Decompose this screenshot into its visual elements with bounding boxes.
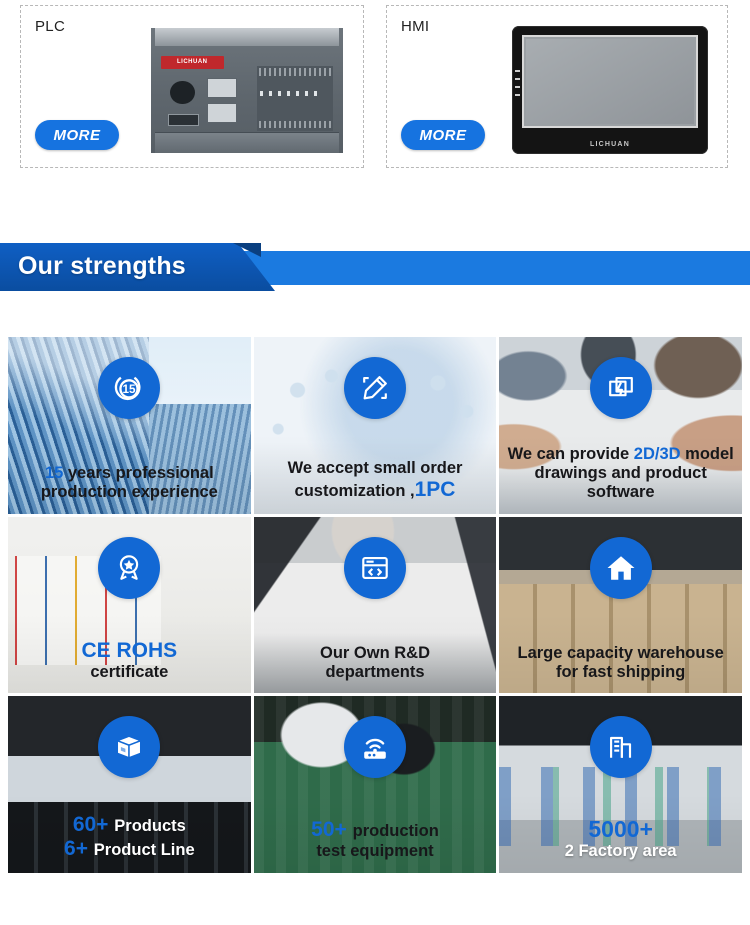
caption-line: test equipment — [260, 842, 491, 861]
clock-15-icon: 15 — [98, 357, 160, 419]
caption-line: 50+ production — [260, 818, 491, 842]
strength-tile[interactable]: 50+ productiontest equipment — [254, 696, 497, 873]
caption-line: certificate — [14, 663, 245, 682]
page-root: PLC LICHUAN MORE HMI — [0, 0, 750, 925]
caption-segment: We can provide — [508, 445, 634, 463]
caption-segment: certificate — [90, 663, 168, 681]
caption-line: drawings and product software — [505, 464, 736, 502]
product-card-title: PLC — [35, 18, 65, 35]
caption-line: 6+ Product Line — [14, 837, 245, 861]
caption-segment: years professional — [68, 464, 214, 482]
caption-line: 2 Factory area — [505, 842, 736, 861]
caption-segment: production — [353, 822, 439, 840]
caption-segment: Large capacity warehouse — [517, 644, 723, 662]
product-card-hmi[interactable]: HMI LICHUAN MORE — [386, 5, 728, 168]
caption-segment: Our Own R&D — [320, 644, 430, 662]
caption-segment: CE ROHS — [81, 639, 177, 662]
strength-tile[interactable]: Large capacity warehousefor fast shippin… — [499, 517, 742, 694]
section-title: Our strengths — [18, 252, 186, 281]
caption-segment: test equipment — [316, 842, 433, 860]
strength-tile[interactable]: 60+ Products6+ Product Line — [8, 696, 251, 873]
caption-line: customization ,1PC — [260, 478, 491, 502]
more-button-plc[interactable]: MORE — [35, 120, 119, 150]
strength-caption: We accept small ordercustomization ,1PC — [260, 459, 491, 502]
caption-line: Our Own R&D — [260, 644, 491, 663]
caption-segment: 2 Factory area — [565, 842, 677, 860]
strength-caption: Large capacity warehousefor fast shippin… — [505, 644, 736, 682]
strength-tile[interactable]: Our Own R&Ddepartments — [254, 517, 497, 694]
factory-building-icon — [590, 716, 652, 778]
svg-text:15: 15 — [123, 383, 137, 396]
caption-segment: production experience — [41, 483, 218, 501]
strengths-grid: 1515 years professionalproduction experi… — [8, 337, 742, 873]
strength-caption: 5000+2 Factory area — [505, 816, 736, 861]
strength-caption: CE ROHScertificate — [14, 639, 245, 682]
caption-segment: 2D/3D — [634, 445, 681, 463]
product-card-plc[interactable]: PLC LICHUAN MORE — [20, 5, 364, 168]
caption-segment: 60+ — [73, 813, 114, 836]
caption-segment: 1PC — [415, 478, 456, 501]
strength-tile[interactable]: 5000+2 Factory area — [499, 696, 742, 873]
caption-line: 60+ Products — [14, 813, 245, 837]
plc-controller-image: LICHUAN — [151, 28, 343, 153]
caption-line: production experience — [14, 483, 245, 502]
caption-segment: departments — [325, 663, 424, 681]
router-signal-icon — [344, 716, 406, 778]
caption-line: CE ROHS — [14, 639, 245, 663]
caption-line: We can provide 2D/3D model — [505, 445, 736, 464]
more-button-hmi[interactable]: MORE — [401, 120, 485, 150]
caption-line: for fast shipping — [505, 663, 736, 682]
caption-segment: customization , — [295, 482, 415, 500]
caption-segment: model — [681, 445, 734, 463]
certificate-star-icon — [98, 537, 160, 599]
strength-caption: 50+ productiontest equipment — [260, 818, 491, 861]
caption-segment: 6+ — [64, 837, 94, 860]
strength-caption: We can provide 2D/3D modeldrawings and p… — [505, 445, 736, 501]
strength-tile[interactable]: We can provide 2D/3D modeldrawings and p… — [499, 337, 742, 514]
caption-segment: Product Line — [94, 841, 195, 859]
caption-line: departments — [260, 663, 491, 682]
hmi-touch-panel-image: LICHUAN — [512, 26, 708, 154]
strength-tile[interactable]: 1515 years professionalproduction experi… — [8, 337, 251, 514]
caption-segment: 5000+ — [588, 816, 653, 842]
caption-segment: drawings and product software — [534, 464, 706, 501]
cad-drawing-icon — [590, 357, 652, 419]
strength-tile[interactable]: CE ROHScertificate — [8, 517, 251, 694]
hmi-brand-label: LICHUAN — [512, 141, 708, 148]
caption-segment: Products — [114, 817, 186, 835]
product-card-title: HMI — [401, 18, 429, 35]
product-cards-row: PLC LICHUAN MORE HMI — [0, 0, 750, 175]
caption-line: 5000+ — [505, 816, 736, 842]
caption-segment: 50+ — [311, 818, 352, 841]
strength-caption: 15 years professionalproduction experien… — [14, 464, 245, 502]
plc-brand-label: LICHUAN — [161, 56, 224, 70]
strength-caption: Our Own R&Ddepartments — [260, 644, 491, 682]
caption-segment: We accept small order — [288, 459, 463, 477]
caption-line: We accept small order — [260, 459, 491, 478]
caption-segment: for fast shipping — [556, 663, 685, 681]
section-banner: Our strengths — [0, 243, 750, 291]
strength-caption: 60+ Products6+ Product Line — [14, 813, 245, 861]
caption-segment: 15 — [45, 464, 68, 482]
code-window-icon — [344, 537, 406, 599]
caption-line: 15 years professional — [14, 464, 245, 483]
pencil-customize-icon — [344, 357, 406, 419]
caption-line: Large capacity warehouse — [505, 644, 736, 663]
strength-tile[interactable]: We accept small ordercustomization ,1PC — [254, 337, 497, 514]
box-package-icon — [98, 716, 160, 778]
home-warehouse-icon — [590, 537, 652, 599]
